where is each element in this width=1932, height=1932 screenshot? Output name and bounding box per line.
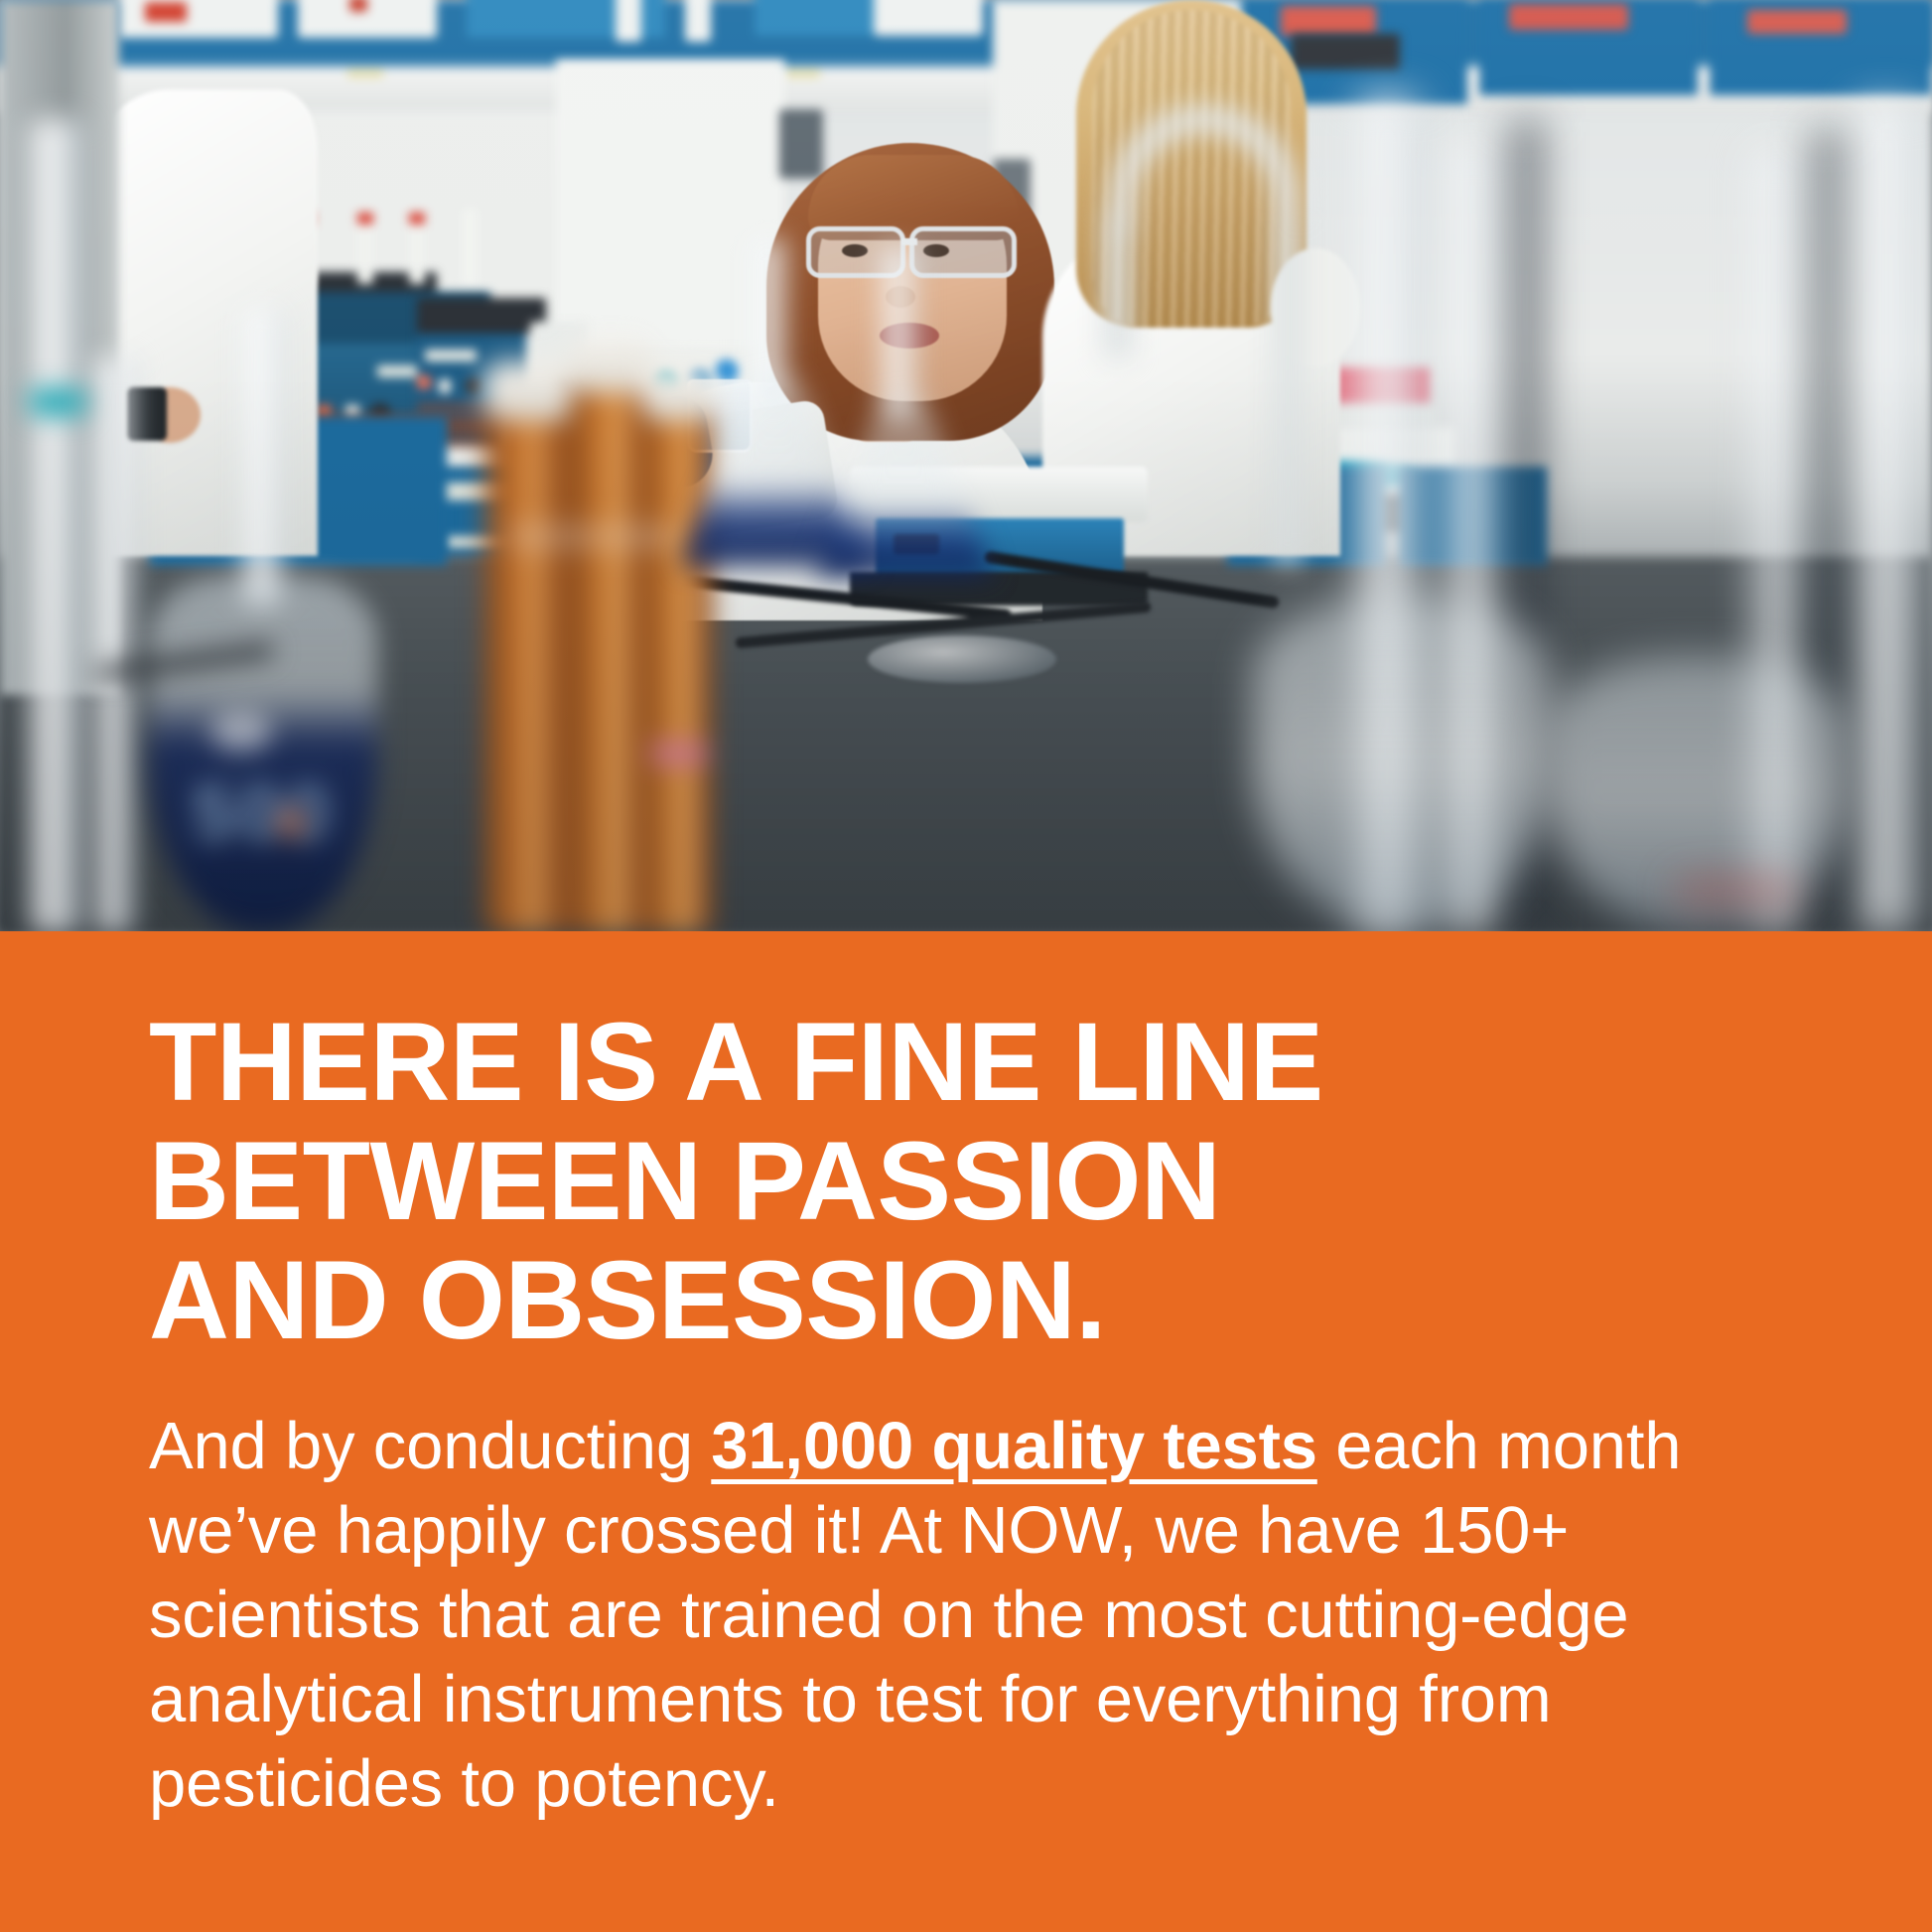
page-title: THERE IS A FINE LINE BETWEEN PASSION AND… xyxy=(149,1003,1783,1360)
foreground-teal-band-left xyxy=(30,389,85,415)
shelf-tube-2 xyxy=(685,0,711,42)
shelf-tab-2 xyxy=(784,69,820,77)
cabinet-contents-red-2 xyxy=(1509,4,1628,30)
shelf-box-2 xyxy=(298,0,437,38)
flask-label-500: 500 xyxy=(189,774,338,850)
clamp-stand-left xyxy=(95,616,274,715)
shelf-blue-box-2 xyxy=(755,0,874,36)
foreground-cylinder-left-1 xyxy=(28,119,85,931)
glass-dish-bench xyxy=(868,635,1056,683)
shelf-red-dot xyxy=(349,0,367,12)
shelf-box-1 xyxy=(119,0,278,38)
headline-line-3: AND OBSESSION. xyxy=(149,1241,1783,1360)
shelf-red-label xyxy=(145,2,187,22)
graduated-cylinder-right-3 xyxy=(1853,103,1922,931)
cabinet-contents-red-3 xyxy=(1747,10,1847,34)
amber-bottle-cluster xyxy=(475,316,713,931)
headline-line-1: THERE IS A FINE LINE xyxy=(149,1003,1783,1122)
orange-text-panel: THERE IS A FINE LINE BETWEEN PASSION AND… xyxy=(0,931,1932,1932)
body-paragraph: And by conducting 31,000 quality tests e… xyxy=(149,1404,1783,1826)
round-flask-right-1 xyxy=(1253,596,1551,931)
flask-red-marking-right xyxy=(1676,880,1795,901)
quality-tests-highlight: 31,000 quality tests xyxy=(711,1409,1316,1483)
erlenmeyer-flask-right xyxy=(814,248,993,576)
shelf-tube-1 xyxy=(616,0,641,42)
headline-line-2: BETWEEN PASSION xyxy=(149,1122,1783,1241)
shelf-box-3 xyxy=(874,0,983,36)
lab-faucet-gooseneck xyxy=(1110,107,1338,564)
body-segment-1: And by conducting xyxy=(149,1409,711,1483)
promo-poster: 500 xyxy=(0,0,1932,1932)
lab-photo: 500 xyxy=(0,0,1932,931)
shelf-tab-1 xyxy=(347,69,383,77)
